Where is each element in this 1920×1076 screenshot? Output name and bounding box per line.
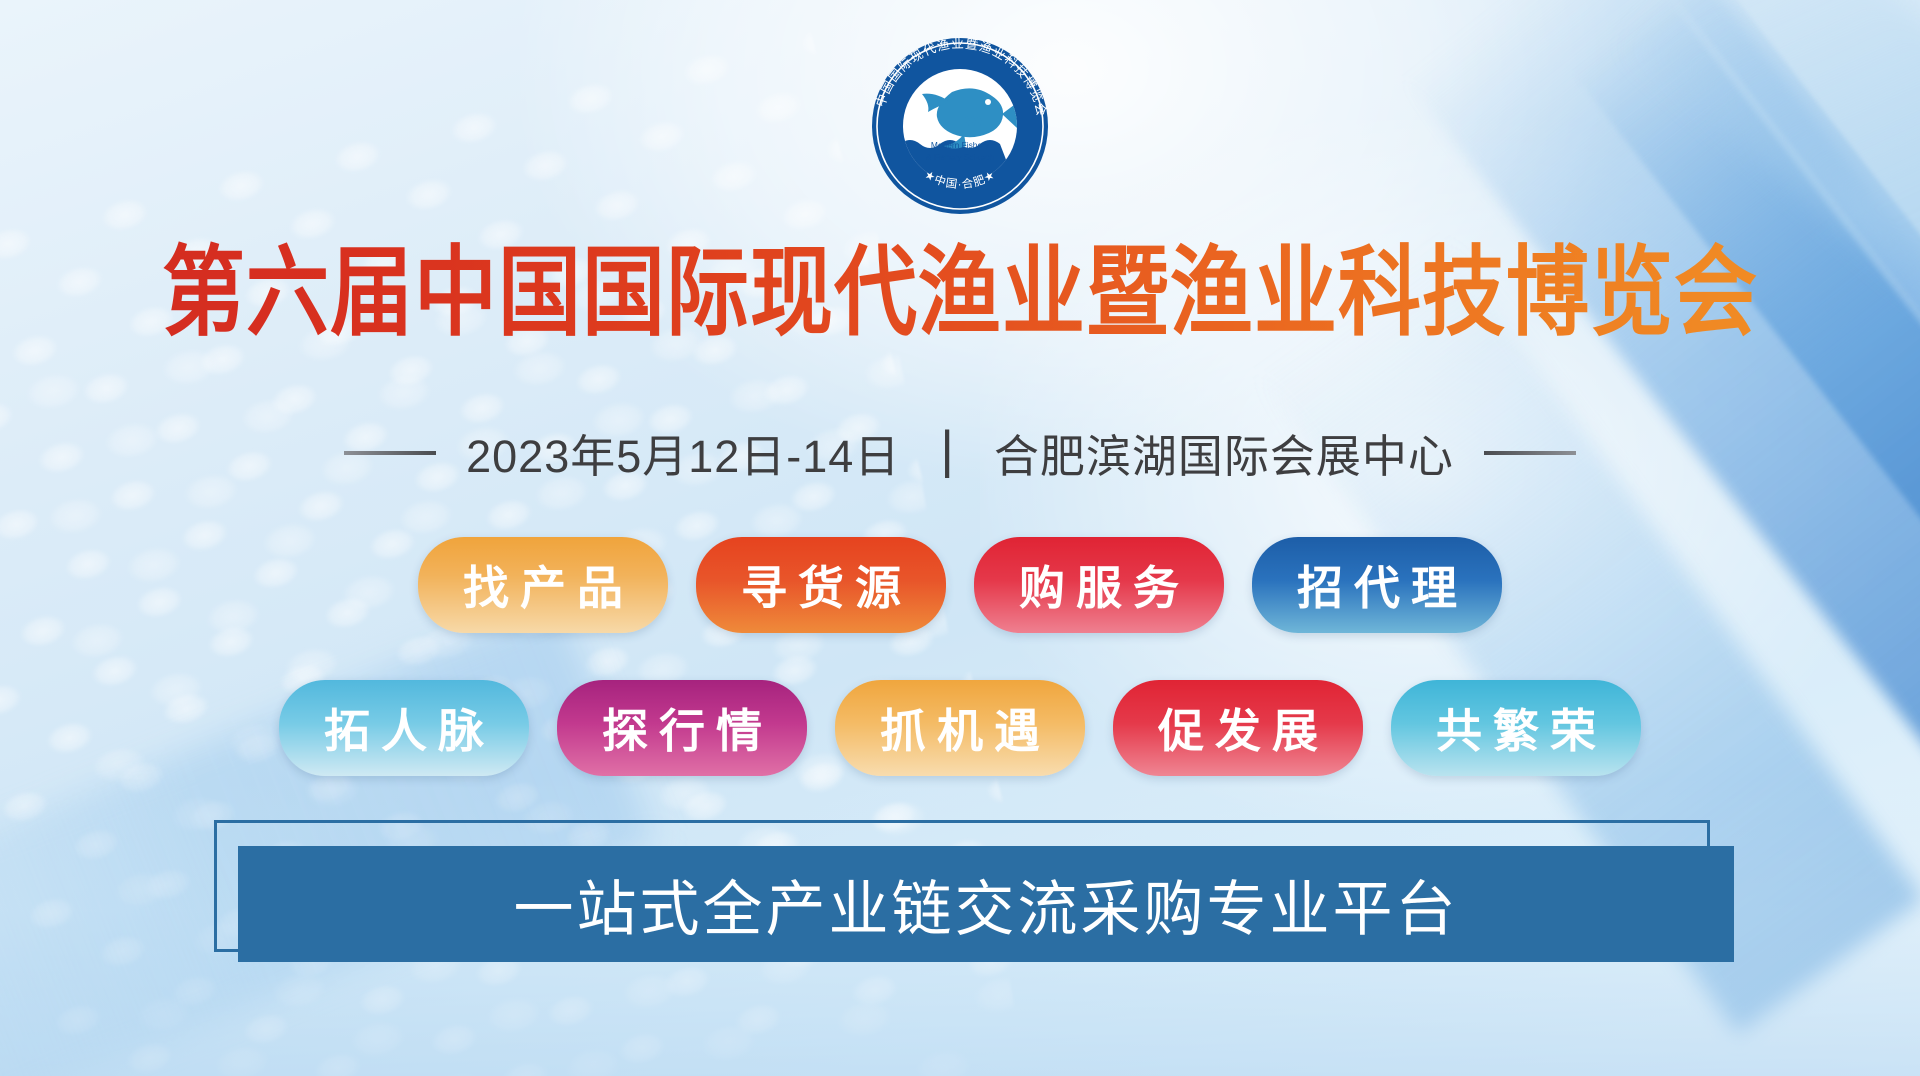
pill-find-products[interactable]: 找产品 <box>418 537 668 633</box>
emblem-icon: 中国国际现代渔业暨渔业科技博览会 Modern Fishery & Fisher… <box>860 26 1060 226</box>
banner-fill-bar: 一站式全产业链交流采购专业平台 <box>238 846 1734 962</box>
page-title: 第六届中国国际现代渔业暨渔业科技博览会 <box>0 241 1920 345</box>
fishery-expo-logo: 中国国际现代渔业暨渔业科技博览会 Modern Fishery & Fisher… <box>860 26 1060 226</box>
keyword-pill-row-1: 找产品 寻货源 购服务 招代理 <box>0 537 1920 633</box>
poster-canvas: 中国国际现代渔业暨渔业科技博览会 Modern Fishery & Fisher… <box>0 0 1920 1076</box>
pill-shared-prosperity[interactable]: 共繁荣 <box>1391 680 1641 776</box>
banner-slogan-text: 一站式全产业链交流采购专业平台 <box>514 861 1459 948</box>
slogan-banner: 一站式全产业链交流采购专业平台 <box>214 820 1714 956</box>
pill-buy-services[interactable]: 购服务 <box>974 537 1224 633</box>
event-venue: 合肥滨湖国际会展中心 <box>994 420 1454 485</box>
pill-seize-opportunity[interactable]: 抓机遇 <box>835 680 1085 776</box>
info-separator: | <box>940 420 954 480</box>
event-date: 2023年5月12日-14日 <box>466 420 900 485</box>
pill-market-insight[interactable]: 探行情 <box>557 680 807 776</box>
pill-expand-network[interactable]: 拓人脉 <box>279 680 529 776</box>
event-info-line: 2023年5月12日-14日 | 合肥滨湖国际会展中心 <box>0 420 1920 485</box>
pill-recruit-agents[interactable]: 招代理 <box>1252 537 1502 633</box>
rule-left <box>344 451 436 455</box>
keyword-pill-row-2: 拓人脉 探行情 抓机遇 促发展 共繁荣 <box>0 680 1920 776</box>
rule-right <box>1484 451 1576 455</box>
logo-english-line-1: Modern Fishery <box>931 140 990 150</box>
pill-promote-growth[interactable]: 促发展 <box>1113 680 1363 776</box>
pill-find-suppliers[interactable]: 寻货源 <box>696 537 946 633</box>
logo-english-line-2: & Fishery Sci-tech <box>926 152 994 162</box>
